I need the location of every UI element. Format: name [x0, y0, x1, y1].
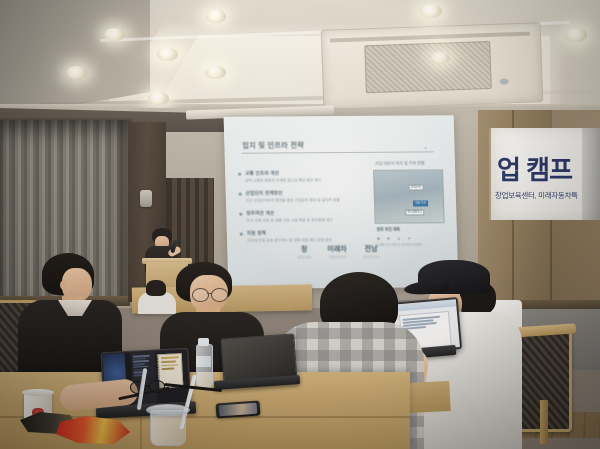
- slide-image-caption: 사업 대상지 위치 및 주변 현황: [375, 160, 425, 166]
- ceiling-downlight: [66, 66, 87, 79]
- ceiling-downlight: [430, 52, 450, 64]
- ceiling-downlight: [206, 10, 226, 23]
- bullet-body: 광역 교통망 확충과 연계한 접근성 향상 방안 제시: [245, 177, 363, 183]
- slide-bullet: 정주여건 개선 주거·교육·의료 등 생활 기반 시설 확충 및 정주환경 개선: [246, 210, 364, 223]
- logo-caption: 창업보육센터: [297, 255, 311, 259]
- bullet-dot-icon: [240, 233, 243, 236]
- popup-row: [161, 360, 175, 362]
- back-row-person-head: [146, 280, 166, 296]
- popup-row: [162, 364, 178, 366]
- phone-screen: [219, 403, 258, 417]
- glasses-bridge: [207, 293, 212, 294]
- photo-scene: 입지 및 인프라 전략 6 교통 인프라 개선 광역 교통망 확충과 연계한 접…: [0, 0, 600, 449]
- banner-title: 업 캠프: [497, 150, 572, 187]
- note-heading: 향후 추진 계획: [377, 227, 443, 232]
- bottle-label: [196, 356, 211, 367]
- map-label: 산업단지: [409, 184, 424, 190]
- bullet-dot-icon: [239, 213, 242, 216]
- glasses-lens-right: [149, 380, 165, 393]
- smartphone: [216, 400, 261, 418]
- participant-p1-ear: [60, 280, 68, 290]
- banner-subtitle: 창업보육센터, 미래자동차특: [495, 190, 578, 201]
- bullet-dot-icon: [238, 173, 241, 176]
- logo-mark: 창: [297, 244, 312, 254]
- bullet-heading: 정주여건 개선: [246, 210, 364, 217]
- slide-page-number: 6: [424, 145, 426, 150]
- chair-leg: [540, 400, 548, 444]
- slide-logo: 전남 전남테크노파크: [363, 244, 380, 259]
- ceiling-downlight: [104, 28, 125, 41]
- slide-bullet: 산업단지 연계방안 인근 산업단지와의 협력을 통한 기업유치 확대 및 일자리…: [246, 190, 364, 203]
- banner-shadow-edge: [582, 128, 600, 220]
- map-label-highlight: 대상 부지: [413, 200, 428, 206]
- slide-logo: 미래차 미래자동차특화: [327, 244, 347, 259]
- ceiling-downlight: [565, 28, 587, 42]
- bottle-cap: [198, 338, 209, 346]
- note-icon-row: ◆ ■ ▲ ●: [377, 235, 443, 240]
- logo-caption: 미래자동차특화: [328, 255, 347, 259]
- ac-grille: [364, 41, 492, 93]
- slide-title: 입지 및 인프라 전략: [242, 140, 304, 150]
- slide-bullet: 지원 정책 지자체 연계 규제 샌드박스 및 세제 지원 제도 운영 방안: [247, 230, 365, 243]
- ac-vane: [330, 32, 530, 43]
- ceiling-downlight: [205, 66, 226, 79]
- ac-sensor-icon: [499, 78, 508, 84]
- slide-aerial-image: 산업단지 대상 부지 연구개발특구: [373, 169, 445, 223]
- ceiling-downlight: [157, 48, 178, 61]
- projection-screen: 입지 및 인프라 전략 6 교통 인프라 개선 광역 교통망 확충과 연계한 접…: [224, 115, 459, 289]
- logo-mark: 미래차: [327, 244, 347, 254]
- wall-speaker-icon: [140, 190, 152, 207]
- glasses-lens-right: [211, 288, 228, 302]
- popup-row: [162, 368, 175, 370]
- bullet-body: 주거·교육·의료 등 생활 기반 시설 확충 및 정주환경 개선: [246, 217, 364, 223]
- cup-rim: [22, 389, 54, 396]
- popup-row: [161, 357, 179, 360]
- bullet-heading: 지원 정책: [247, 230, 365, 237]
- logo-mark: 전남: [363, 244, 380, 254]
- cup-dome-lid: [146, 404, 190, 416]
- map-label: 연구개발특구: [405, 209, 424, 215]
- ceiling-downlight: [420, 4, 442, 18]
- slide-logo-row: 창 창업보육센터 미래차 미래자동차특화 전남 전남테크노파크: [273, 244, 403, 260]
- glasses-lens-left: [192, 288, 209, 302]
- eyeglasses-on-table: [130, 380, 164, 393]
- eyeglasses-icon: [192, 288, 228, 301]
- slide-bullet: 교통 인프라 개선 광역 교통망 확충과 연계한 접근성 향상 방안 제시: [245, 170, 363, 183]
- air-conditioner-unit: [321, 22, 544, 110]
- bullet-heading: 교통 인프라 개선: [245, 170, 363, 177]
- logo-caption: 전남테크노파크: [363, 255, 380, 259]
- ceiling-downlight: [148, 92, 169, 105]
- tree-item: [132, 355, 150, 358]
- glasses-bridge: [144, 385, 150, 387]
- bullet-body: 인근 산업단지와의 협력을 통한 기업유치 확대 및 일자리 창출: [246, 197, 364, 203]
- slide-logo: 창 창업보육센터: [297, 244, 312, 259]
- bullet-dot-icon: [239, 193, 242, 196]
- bullet-body: 지자체 연계 규제 샌드박스 및 세제 지원 제도 운영 방안: [247, 237, 365, 243]
- bullet-heading: 산업단지 연계방안: [246, 190, 364, 197]
